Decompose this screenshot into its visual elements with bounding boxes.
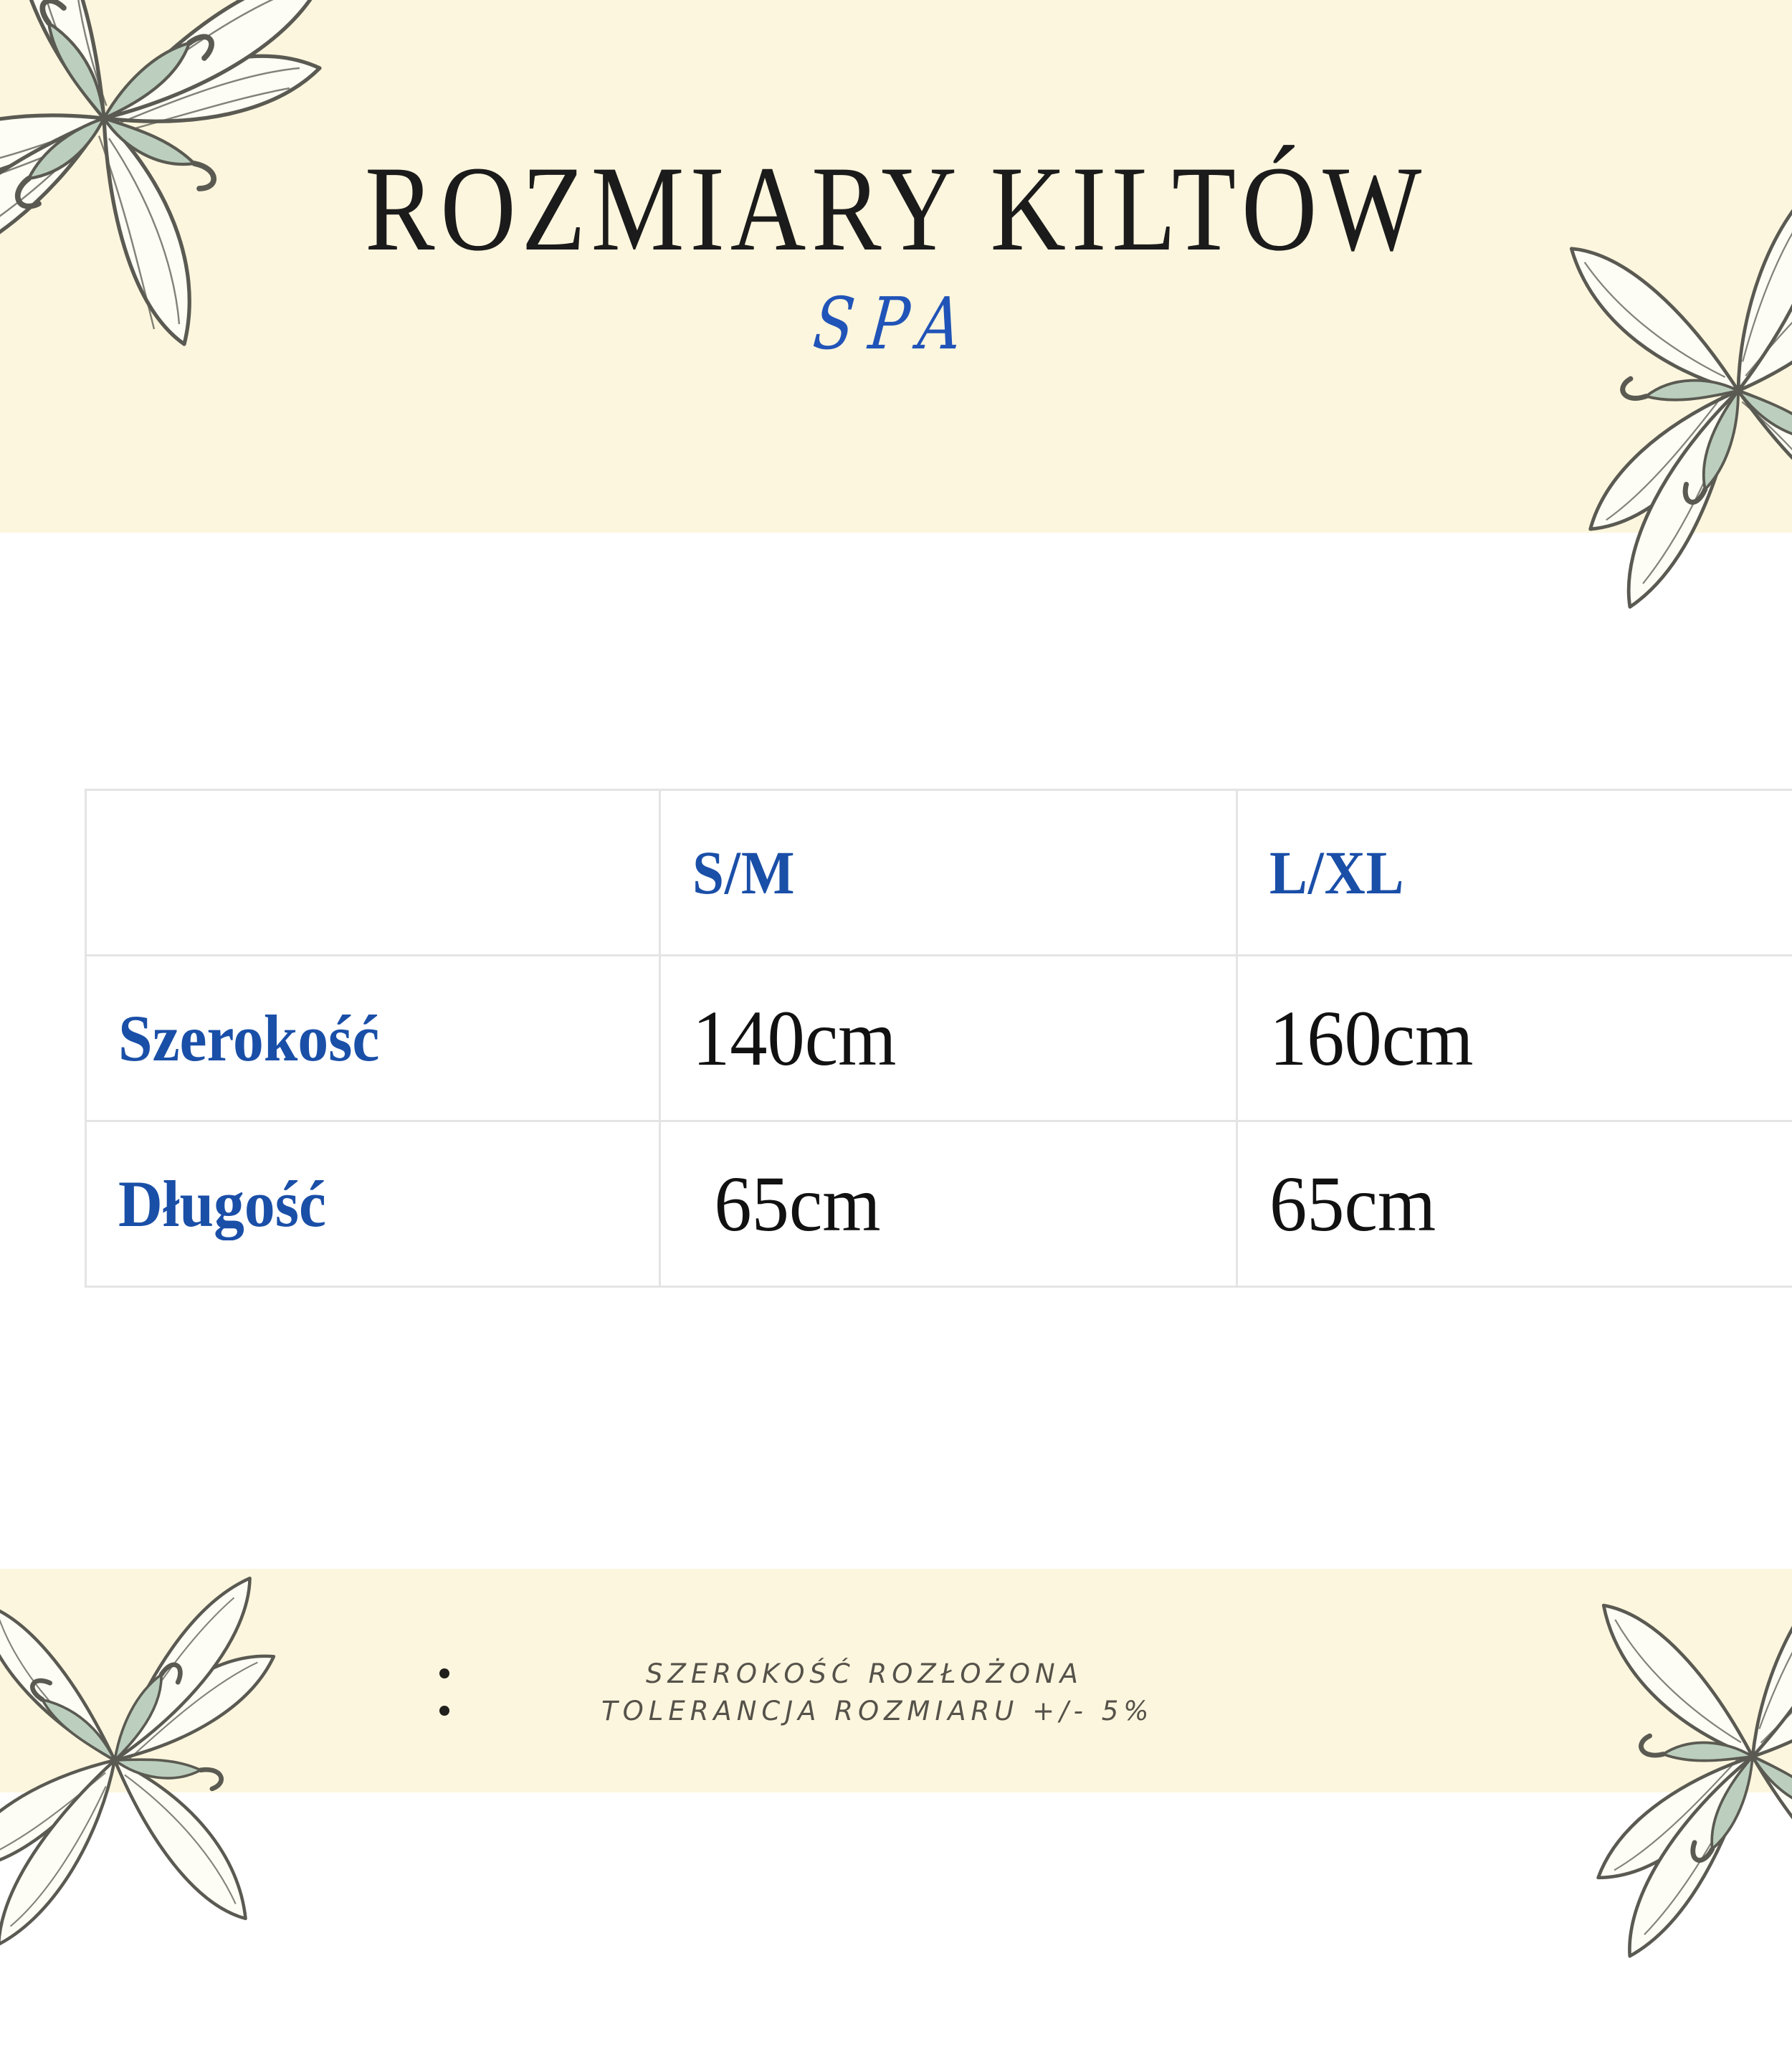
row-label-cell-length: Długość (86, 1121, 660, 1287)
value-length-sm: 65cm (692, 1159, 881, 1250)
row-label-width: Szerokość (118, 1000, 379, 1076)
header-cell-sm: S/M (660, 790, 1237, 956)
table-header-row: S/M L/XL (86, 790, 1792, 956)
header-block: ROZMIARY KILTÓW SPA (0, 0, 1792, 366)
footer-notes: SZEROKOŚĆ ROZŁOŻONA TOLERANCJA ROZMIARU … (0, 1655, 1792, 1729)
bullet-icon (439, 1668, 449, 1678)
header-cell-lxl: L/XL (1237, 790, 1792, 956)
row-label-length: Długość (118, 1166, 326, 1242)
bullet-icon (439, 1706, 449, 1716)
page-subtitle: SPA (156, 269, 1636, 366)
row-label-cell-width: Szerokość (86, 956, 660, 1121)
value-width-lxl: 160cm (1269, 993, 1473, 1084)
header-label-lxl: L/XL (1269, 837, 1404, 908)
list-item: TOLERANCJA ROZMIARU +/- 5% (0, 1692, 1792, 1729)
page-title: ROZMIARY KILTÓW (125, 0, 1667, 269)
value-width-sm: 140cm (692, 993, 896, 1084)
list-item: SZEROKOŚĆ ROZŁOŻONA (0, 1655, 1792, 1692)
note-text-width-unfolded: SZEROKOŚĆ ROZŁOŻONA (646, 1658, 1083, 1689)
cell-width-lxl: 160cm (1237, 956, 1792, 1121)
header-cell-blank (86, 790, 660, 956)
note-text-tolerance: TOLERANCJA ROZMIARU +/- 5% (601, 1696, 1153, 1726)
cell-length-lxl: 65cm (1237, 1121, 1792, 1287)
cell-width-sm: 140cm (660, 956, 1237, 1121)
cell-length-sm: 65cm (660, 1121, 1237, 1287)
size-table: S/M L/XL Szerokość 140cm 160cm Długość 6… (85, 789, 1792, 1288)
table-row: Szerokość 140cm 160cm (86, 956, 1792, 1121)
header-label-sm: S/M (692, 837, 795, 908)
value-length-lxl: 65cm (1269, 1159, 1436, 1250)
table-row: Długość 65cm 65cm (86, 1121, 1792, 1287)
